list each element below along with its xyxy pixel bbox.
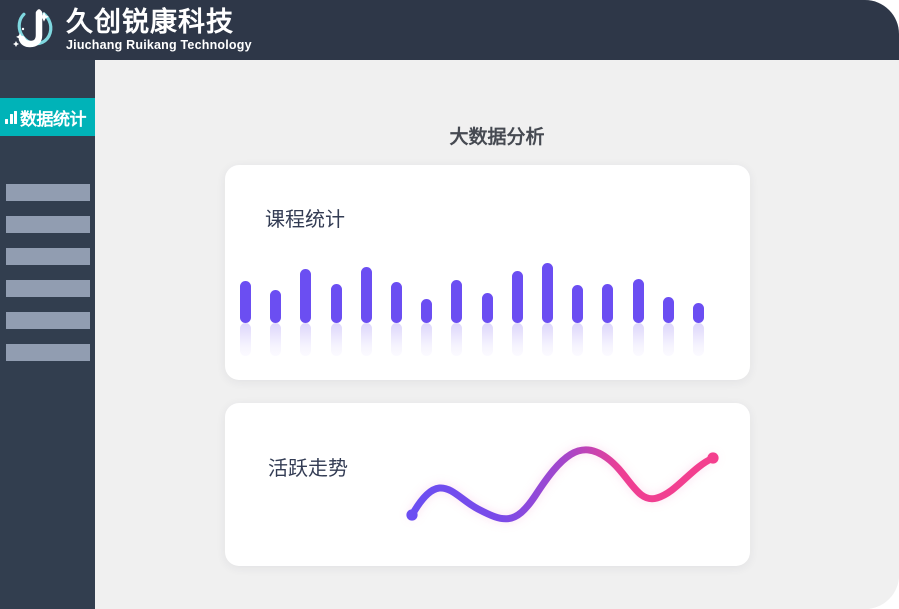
bar bbox=[331, 284, 342, 323]
bar-reflection bbox=[693, 323, 704, 356]
sidebar-placeholder-item[interactable] bbox=[6, 184, 90, 201]
bar-reflection bbox=[572, 323, 583, 356]
bar bbox=[421, 299, 432, 323]
bar bbox=[240, 281, 251, 323]
card-title: 课程统计 bbox=[265, 203, 345, 232]
brand-name-cn: 久创锐康科技 bbox=[66, 9, 252, 36]
bar-reflection bbox=[391, 323, 402, 356]
bar bbox=[602, 284, 613, 323]
activity-trend-card: 活跃走势 bbox=[225, 403, 750, 566]
app-window: 久创锐康科技 Jiuchang Ruikang Technology 数据统计 … bbox=[0, 0, 899, 609]
jiuchang-j-orbit-logo-icon bbox=[8, 5, 60, 55]
bar-reflection bbox=[361, 323, 372, 356]
line-end-point bbox=[707, 452, 718, 463]
bar bbox=[270, 290, 281, 324]
bar bbox=[663, 297, 674, 323]
main-content: 大数据分析 课程统计 活跃走势 bbox=[95, 60, 899, 609]
sidebar-placeholder-item[interactable] bbox=[6, 216, 90, 233]
sidebar-placeholder-item[interactable] bbox=[6, 312, 90, 329]
bar-reflection bbox=[421, 323, 432, 356]
bar-reflection bbox=[300, 323, 311, 356]
brand-wordmark: 久创锐康科技 Jiuchang Ruikang Technology bbox=[66, 9, 252, 52]
bar-reflection bbox=[331, 323, 342, 356]
bar bbox=[572, 285, 583, 323]
bar-reflection bbox=[633, 323, 644, 356]
bar-reflection bbox=[240, 323, 251, 356]
activity-trend-line-chart bbox=[225, 403, 750, 566]
sidebar-placeholder-item[interactable] bbox=[6, 248, 90, 265]
bar-reflection bbox=[512, 323, 523, 356]
bar bbox=[300, 269, 311, 323]
bar bbox=[542, 263, 553, 323]
course-statistics-bar-chart bbox=[225, 165, 750, 380]
bar bbox=[693, 303, 704, 323]
bar bbox=[361, 267, 372, 323]
bar-chart-icon bbox=[5, 111, 17, 124]
bar-reflection bbox=[663, 323, 674, 356]
course-statistics-card: 课程统计 bbox=[225, 165, 750, 380]
sidebar-placeholder-item[interactable] bbox=[6, 344, 90, 361]
bar-reflection bbox=[602, 323, 613, 356]
bar-reflection bbox=[482, 323, 493, 356]
sidebar-placeholder-item[interactable] bbox=[6, 280, 90, 297]
bar-reflection bbox=[542, 323, 553, 356]
sidebar-nav: 数据统计 bbox=[0, 60, 95, 609]
brand-name-en: Jiuchang Ruikang Technology bbox=[66, 39, 252, 52]
sidebar-item-label: 数据统计 bbox=[20, 105, 86, 130]
bar-reflection bbox=[270, 323, 281, 356]
sidebar-item-data-statistics[interactable]: 数据统计 bbox=[0, 98, 95, 136]
app-header: 久创锐康科技 Jiuchang Ruikang Technology bbox=[0, 0, 899, 60]
page-title: 大数据分析 bbox=[95, 122, 899, 149]
bar bbox=[391, 282, 402, 323]
line-start-point bbox=[406, 509, 417, 520]
bar bbox=[451, 280, 462, 323]
bar-reflection bbox=[451, 323, 462, 356]
bar bbox=[512, 271, 523, 323]
bar bbox=[633, 279, 644, 323]
bar bbox=[482, 293, 493, 323]
